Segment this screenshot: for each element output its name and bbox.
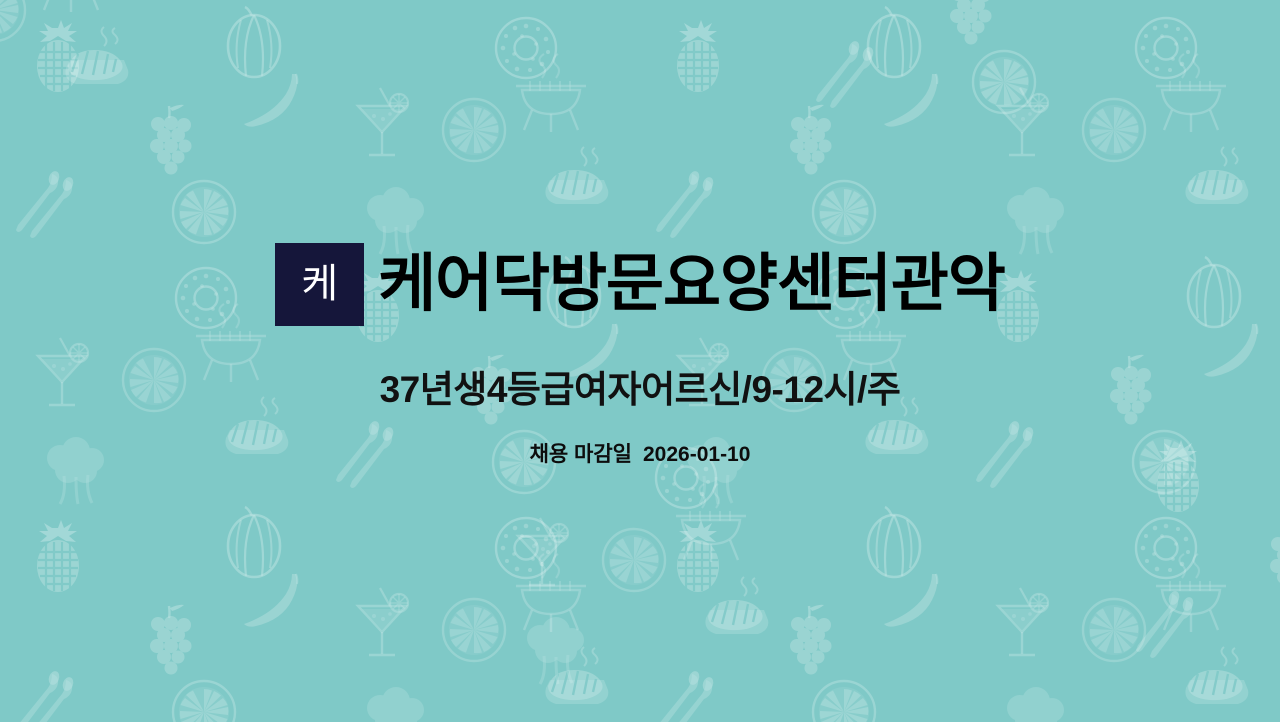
deadline-date: 2026-01-10 <box>643 442 750 467</box>
deadline-row: 채용 마감일 2026-01-10 <box>530 442 751 467</box>
page-title: 케어닥방문요양센터관악 <box>378 251 1005 317</box>
deadline-label: 채용 마감일 <box>530 442 632 467</box>
company-title-row: 케 케어닥방문요양센터관악 <box>275 236 1005 332</box>
job-posting-card: 케 케어닥방문요양센터관악 37년생4등급여자어르신/9-12시/주 채용 마감… <box>0 0 1280 722</box>
brand-badge-label: 케 <box>301 264 338 304</box>
brand-initial-badge: 케 <box>275 243 364 326</box>
job-subtitle: 37년생4등급여자어르신/9-12시/주 <box>380 368 901 412</box>
